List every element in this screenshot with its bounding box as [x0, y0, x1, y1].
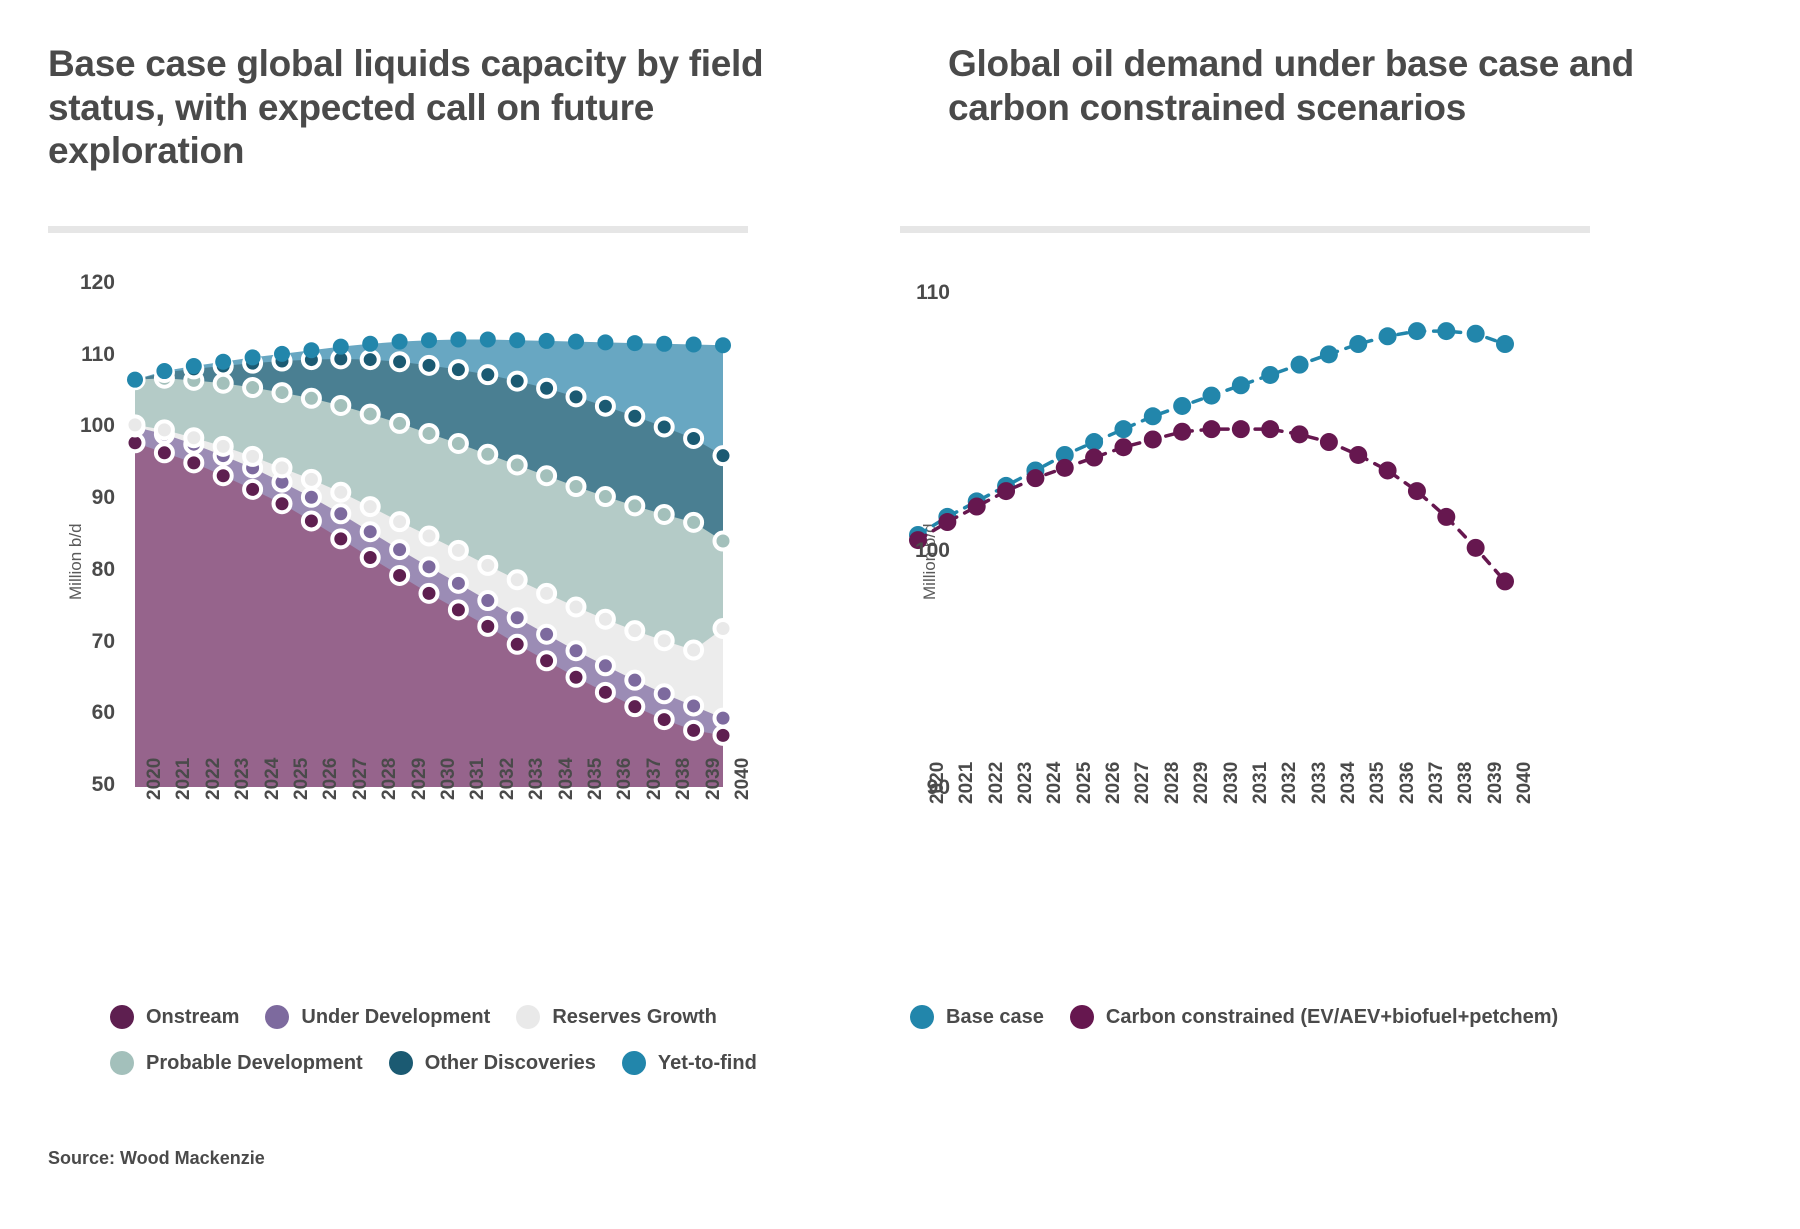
left-x-tick: 2021 — [173, 758, 195, 800]
right-legend-row-1: Base caseCarbon constrained (EV/AEV+biof… — [910, 1005, 1790, 1029]
left-y-tick: 50 — [15, 773, 115, 797]
left-y-tick: 70 — [15, 630, 115, 654]
left-x-tick: 2023 — [232, 758, 254, 800]
left-y-tick: 100 — [15, 414, 115, 438]
legend-label: Under Development — [301, 1006, 490, 1029]
right-chart-panel: Global oil demand under base case and ca… — [900, 0, 1800, 1229]
left-x-tick: 2032 — [497, 758, 519, 800]
legend-item-under-development[interactable]: Under Development — [265, 1005, 490, 1029]
left-y-tick: 120 — [15, 271, 115, 295]
left-x-tick: 2022 — [203, 758, 225, 800]
right-x-tick: 2031 — [1250, 762, 1272, 804]
right-legend: Base caseCarbon constrained (EV/AEV+biof… — [910, 1005, 1790, 1029]
left-x-tick: 2027 — [350, 758, 372, 800]
left-x-tick: 2031 — [467, 758, 489, 800]
right-x-tick: 2036 — [1397, 762, 1419, 804]
legend-swatch-icon — [622, 1051, 646, 1075]
left-y-tick: 80 — [15, 558, 115, 582]
legend-item-yet-to-find[interactable]: Yet-to-find — [622, 1051, 757, 1075]
left-x-tick: 2026 — [320, 758, 342, 800]
right-x-tick: 2030 — [1221, 762, 1243, 804]
left-x-tick: 2030 — [438, 758, 460, 800]
left-x-tick: 2040 — [732, 758, 754, 800]
legend-label: Yet-to-find — [658, 1052, 757, 1075]
left-x-tick: 2039 — [703, 758, 725, 800]
right-x-tick: 2029 — [1191, 762, 1213, 804]
right-x-tick: 2026 — [1103, 762, 1125, 804]
left-x-tick: 2037 — [644, 758, 666, 800]
left-y-tick: 90 — [15, 486, 115, 510]
left-legend-row-1: OnstreamUnder DevelopmentReserves Growth — [110, 1005, 810, 1029]
left-x-tick: 2020 — [144, 758, 166, 800]
right-x-tick: 2022 — [986, 762, 1008, 804]
legend-swatch-icon — [110, 1051, 134, 1075]
left-legend-row-2: Probable DevelopmentOther DiscoveriesYet… — [110, 1051, 810, 1075]
left-x-tick: 2024 — [262, 758, 284, 800]
right-x-tick: 2023 — [1015, 762, 1037, 804]
legend-label: Probable Development — [146, 1052, 363, 1075]
left-x-tick: 2033 — [526, 758, 548, 800]
legend-item-other-discoveries[interactable]: Other Discoveries — [389, 1051, 596, 1075]
legend-label: Carbon constrained (EV/AEV+biofuel+petch… — [1106, 1006, 1558, 1029]
right-x-tick: 2027 — [1132, 762, 1154, 804]
left-x-tick: 2034 — [556, 758, 578, 800]
right-x-tick: 2033 — [1309, 762, 1331, 804]
right-x-tick: 2038 — [1455, 762, 1477, 804]
left-x-tick: 2028 — [379, 758, 401, 800]
legend-item-base-case[interactable]: Base case — [910, 1005, 1044, 1029]
right-x-tick: 2028 — [1162, 762, 1184, 804]
legend-item-carbon-constrained[interactable]: Carbon constrained (EV/AEV+biofuel+petch… — [1070, 1005, 1558, 1029]
legend-item-onstream[interactable]: Onstream — [110, 1005, 239, 1029]
legend-swatch-icon — [910, 1005, 934, 1029]
left-x-tick: 2029 — [409, 758, 431, 800]
legend-item-reserves-growth[interactable]: Reserves Growth — [516, 1005, 717, 1029]
source-note: Source: Wood Mackenzie — [48, 1148, 265, 1169]
left-y-tick: 60 — [15, 701, 115, 725]
right-x-tick: 2021 — [956, 762, 978, 804]
right-y-tick: 110 — [840, 281, 950, 305]
left-x-tick: 2036 — [614, 758, 636, 800]
legend-item-probable-development[interactable]: Probable Development — [110, 1051, 363, 1075]
right-x-tick: 2035 — [1367, 762, 1389, 804]
right-x-tick: 2040 — [1514, 762, 1536, 804]
legend-label: Reserves Growth — [552, 1006, 717, 1029]
legend-label: Onstream — [146, 1006, 239, 1029]
left-x-tick: 2035 — [585, 758, 607, 800]
right-x-tick: 2039 — [1485, 762, 1507, 804]
legend-swatch-icon — [516, 1005, 540, 1029]
legend-swatch-icon — [1070, 1005, 1094, 1029]
right-x-tick: 2037 — [1426, 762, 1448, 804]
left-legend: OnstreamUnder DevelopmentReserves Growth… — [110, 1005, 810, 1075]
right-y-tick: 100 — [840, 539, 950, 563]
legend-label: Other Discoveries — [425, 1052, 596, 1075]
left-x-tick: 2038 — [673, 758, 695, 800]
left-x-tick: 2025 — [291, 758, 313, 800]
right-x-tick: 2025 — [1074, 762, 1096, 804]
right-x-tick: 2024 — [1044, 762, 1066, 804]
legend-swatch-icon — [110, 1005, 134, 1029]
right-x-tick: 2034 — [1338, 762, 1360, 804]
legend-swatch-icon — [265, 1005, 289, 1029]
legend-swatch-icon — [389, 1051, 413, 1075]
right-x-tick: 2032 — [1279, 762, 1301, 804]
legend-label: Base case — [946, 1006, 1044, 1029]
left-y-tick: 110 — [15, 343, 115, 367]
right-x-tick: 2020 — [927, 762, 949, 804]
left-chart-panel: Base case global liquids capacity by fie… — [0, 0, 900, 1229]
